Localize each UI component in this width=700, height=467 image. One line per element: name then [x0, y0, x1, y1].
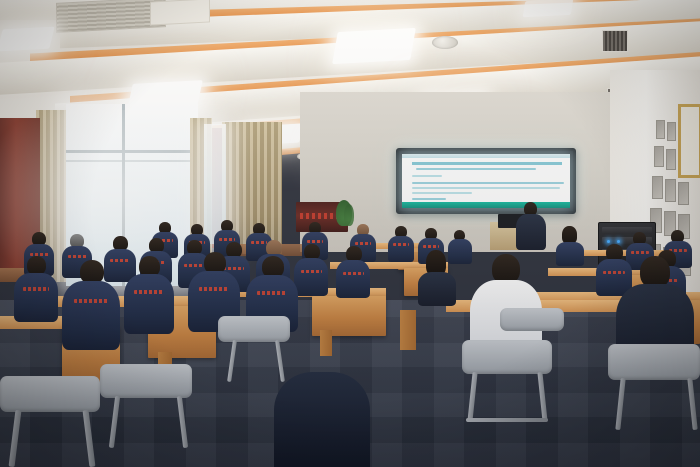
ceiling-light [0, 27, 55, 52]
person-body [336, 260, 370, 298]
uniform-logo [257, 291, 287, 295]
uniform-logo [74, 299, 108, 303]
training-chair-back[interactable] [500, 308, 564, 331]
audience-member [124, 256, 174, 334]
audience-member [274, 372, 370, 467]
uniform-logo [307, 240, 323, 243]
training-room-photo: Corporate Training Session in Conference… [0, 0, 700, 467]
desk-leg [320, 330, 332, 356]
audience-member [294, 244, 328, 296]
framed-certificate [652, 176, 663, 199]
audience-member [556, 226, 584, 266]
status-led [617, 240, 620, 243]
framed-certificate [656, 120, 665, 139]
uniform-logo [219, 238, 235, 241]
desk-leg [400, 310, 416, 350]
framed-certificate [665, 179, 676, 202]
uniform-logo [301, 270, 322, 273]
training-chair-back[interactable] [0, 376, 100, 412]
uniform-logo [134, 290, 164, 294]
presenter-body [516, 214, 546, 250]
screen-content [402, 154, 570, 208]
training-chair-back[interactable] [100, 364, 192, 398]
person-body [294, 258, 328, 296]
training-chair-back[interactable] [608, 344, 700, 380]
uniform-logo [199, 287, 229, 291]
training-chair-back[interactable] [462, 340, 552, 374]
audience-member [62, 260, 120, 350]
framed-certificate [654, 146, 664, 167]
uniform-logo [393, 243, 409, 246]
framed-certificate [667, 122, 676, 141]
document-ruler [402, 154, 570, 158]
person-body [14, 273, 58, 322]
audience-member [388, 226, 414, 262]
audience-member [336, 246, 370, 298]
chair-leg [466, 418, 548, 422]
uniform-logo [68, 255, 87, 258]
window-mullion [66, 160, 198, 162]
person-body [124, 274, 174, 334]
wall-vent-icon [602, 30, 628, 52]
person-body [418, 272, 456, 306]
uniform-logo [343, 272, 364, 275]
uniform-logo [423, 245, 439, 248]
ceiling-light [332, 28, 416, 64]
window-mullion [66, 150, 198, 153]
person-body [556, 242, 584, 266]
person-body [388, 236, 414, 262]
status-led [607, 240, 610, 243]
framed-certificate [678, 182, 689, 205]
uniform-logo [355, 242, 371, 245]
ceiling-speaker-icon [432, 36, 458, 49]
person-body [274, 372, 370, 467]
audience-member [14, 256, 58, 322]
ceiling-light [523, 0, 574, 17]
potted-plant [344, 204, 354, 226]
framed-certificate [666, 149, 676, 170]
gold-framed-board [678, 104, 700, 178]
presenter [516, 202, 546, 250]
uniform-logo [23, 287, 49, 291]
person-body [62, 281, 120, 350]
training-chair-back[interactable] [218, 316, 290, 342]
presentation-screen[interactable] [396, 148, 576, 214]
audience-member [418, 250, 456, 306]
